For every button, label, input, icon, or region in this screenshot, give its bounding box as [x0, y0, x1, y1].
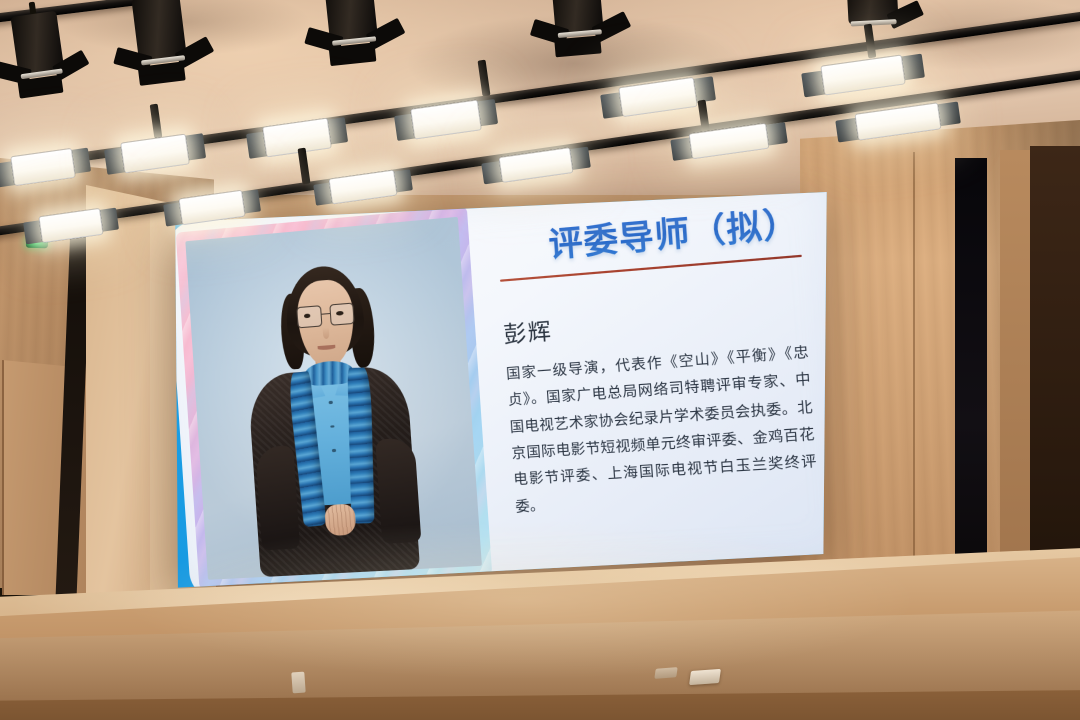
portrait-photo [185, 216, 482, 580]
slide-container: 评委导师（拟） 彭辉 国家一级导演，代表作《空山》《平衡》《忠贞》。国家广电总局… [170, 190, 830, 590]
portrait-eye-right [336, 311, 343, 316]
slide-card: 评委导师（拟） 彭辉 国家一级导演，代表作《空山》《平衡》《忠贞》。国家广电总局… [170, 190, 830, 590]
floor-outlet-plate [654, 667, 677, 679]
right-wall-far-section [1000, 150, 1034, 595]
portrait-frame [175, 206, 492, 590]
portrait-shirt-button [332, 449, 336, 452]
right-wall-seam [913, 152, 915, 592]
led-screen-surface: 评委导师（拟） 彭辉 国家一级导演，代表作《空山》《平衡》《忠贞》。国家广电总局… [170, 190, 830, 590]
portrait-sleeve-left [255, 445, 300, 550]
floor-outlet-box[interactable] [689, 669, 721, 685]
corner-mark-icon [757, 190, 765, 191]
slide-text-content: 评委导师（拟） 彭辉 国家一级导演，代表作《空山》《平衡》《忠贞》。国家广电总局… [466, 190, 830, 585]
person-name: 彭辉 [502, 294, 807, 350]
wall-switch-plate[interactable] [291, 672, 305, 694]
corner-decoration-marks [757, 190, 807, 191]
right-wall-shadow-section [1030, 146, 1080, 596]
right-dark-pillar [955, 158, 987, 598]
portrait-hands [324, 503, 356, 536]
person-biography: 国家一级导演，代表作《空山》《平衡》《忠贞》。国家广电总局网络司特聘评审专家、中… [505, 340, 819, 522]
stage-room-scene: 评委导师（拟） 彭辉 国家一级导演，代表作《空山》《平衡》《忠贞》。国家广电总局… [0, 0, 1080, 720]
portrait-shirt-button [329, 401, 333, 404]
glasses-bridge [321, 313, 329, 315]
led-screen[interactable]: 评委导师（拟） 彭辉 国家一级导演，代表作《空山》《平衡》《忠贞》。国家广电总局… [170, 190, 830, 590]
portrait-hands-detail [324, 503, 356, 536]
